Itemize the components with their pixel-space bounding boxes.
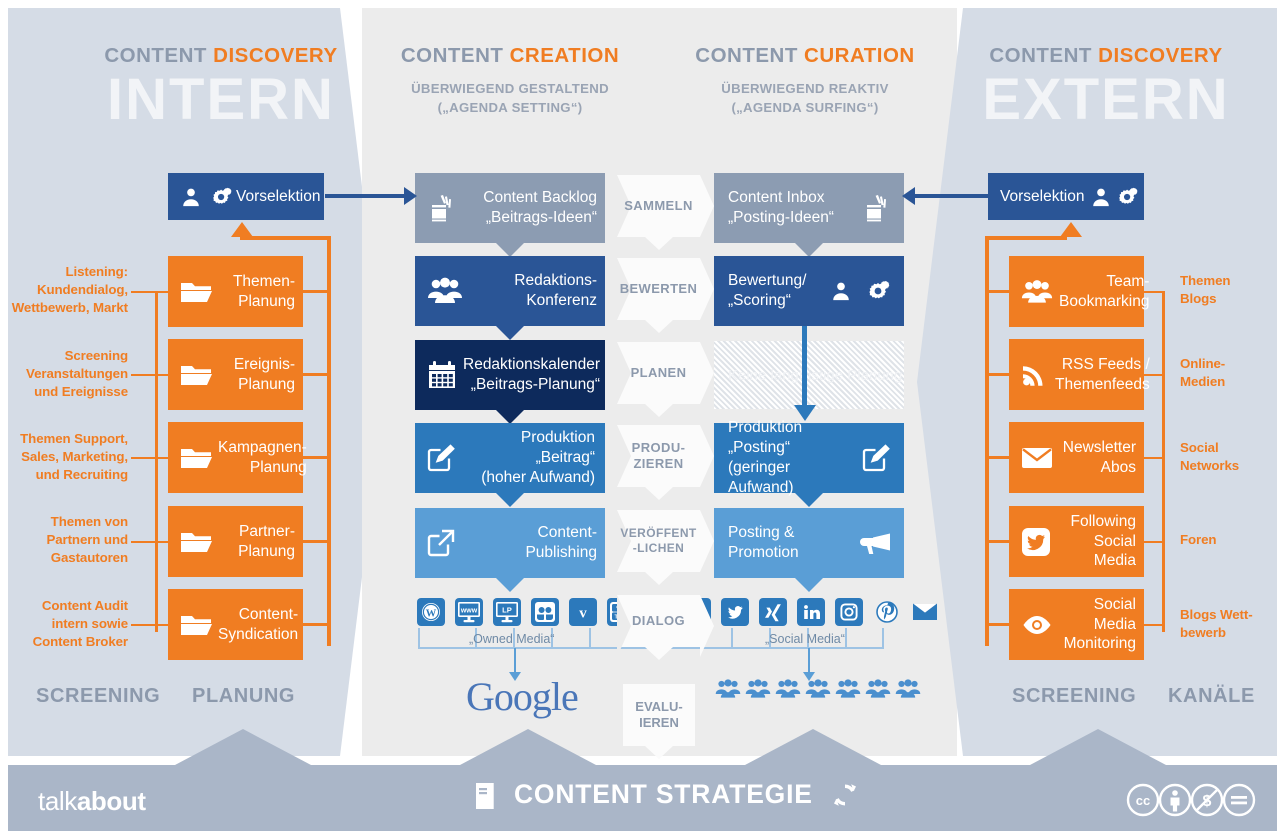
box-social-media-monitoring[interactable]: Social MediaMonitoring xyxy=(1009,589,1144,660)
stage-bewerten: BEWERTEN xyxy=(617,258,700,320)
calendar-icon xyxy=(415,360,463,390)
box-ereignis-planung[interactable]: Ereignis-Planung xyxy=(168,339,303,410)
left-vorselektion-label: Vorselektion xyxy=(236,187,330,207)
brand-logo: talkabout xyxy=(38,786,146,817)
right-return-arrowhead xyxy=(1060,222,1082,237)
box-label: RSS Feeds /Themenfeeds xyxy=(1055,355,1158,395)
people-icon xyxy=(715,678,741,700)
header-kicker: CONTENT CURATION xyxy=(660,45,950,68)
caret-1 xyxy=(496,243,524,257)
people-icon xyxy=(745,678,771,700)
header-discovery-extern: CONTENT DISCOVERY EXTERN xyxy=(945,45,1267,130)
right-vorselektion-box[interactable]: Vorselektion xyxy=(988,173,1144,220)
left-stub-1 xyxy=(300,290,330,293)
stage-evaluieren: EVALU-IEREN xyxy=(623,684,695,746)
footer-triangle-1 xyxy=(175,729,311,765)
people-icon xyxy=(865,678,891,700)
caret-c1 xyxy=(795,243,823,257)
left-caption-spine xyxy=(155,292,158,632)
stage-label: EVALU-IEREN xyxy=(635,699,682,732)
backlog-icon xyxy=(415,193,463,223)
header-kicker: CONTENT DISCOVERY xyxy=(60,45,382,68)
box-label: Content-Publishing xyxy=(461,523,605,563)
header-kicker: CONTENT CREATION xyxy=(365,45,655,68)
header-ghost-word: EXTERN xyxy=(945,70,1267,131)
caret-2 xyxy=(496,326,524,340)
wordpress-icon[interactable]: W xyxy=(417,598,445,626)
header-kicker: CONTENT DISCOVERY xyxy=(945,45,1267,68)
pinterest-icon[interactable] xyxy=(873,598,901,626)
box-redaktionskalender[interactable]: Redaktionskalender„Beitrags-Planung“ xyxy=(415,340,605,410)
box-content-publishing[interactable]: Content-Publishing xyxy=(415,508,605,578)
people-icon xyxy=(805,678,831,700)
caret-5 xyxy=(496,578,524,592)
edit-icon xyxy=(415,444,463,472)
landing-page-icon[interactable]: LP xyxy=(493,598,521,626)
xing-icon[interactable] xyxy=(759,598,787,626)
caption-listening: Listening: Kundendialog, Wettbewerb, Mar… xyxy=(8,263,128,317)
box-newsletter-abos[interactable]: NewsletterAbos xyxy=(1009,422,1144,493)
right-return-spine xyxy=(985,236,989,646)
nc-icon: $ xyxy=(1189,782,1225,818)
box-produktion-posting[interactable]: Produktion „Posting“(geringer Aufwand) xyxy=(714,423,904,493)
svg-text:cc: cc xyxy=(1136,793,1150,808)
linkedin-icon[interactable] xyxy=(797,598,825,626)
gears-icon xyxy=(208,186,236,208)
header-subtitle: ÜBERWIEGEND GESTALTEND („AGENDA SETTING“… xyxy=(365,79,655,117)
vimeo-icon[interactable]: v xyxy=(569,598,597,626)
box-label: Produktion „Posting“(geringer Aufwand) xyxy=(714,418,856,497)
stage-veroeffentlichen: VERÖFFENT-LICHEN xyxy=(617,510,700,572)
caption-screening: Screening Veranstaltungen und Ereignisse xyxy=(8,347,128,401)
user-icon xyxy=(168,186,208,208)
connector-left-arrowhead xyxy=(404,187,417,205)
header-content-creation: CONTENT CREATION ÜBERWIEGEND GESTALTEND … xyxy=(365,45,655,117)
left-stub-4 xyxy=(300,540,330,543)
box-content-backlog[interactable]: Content Backlog„Beitrags-Ideen“ xyxy=(415,173,605,243)
audience-group-icons xyxy=(715,678,921,700)
footer-triangle-4 xyxy=(1030,729,1166,765)
box-produktion-beitrag[interactable]: Produktion „Beitrag“(hoher Aufwand) xyxy=(415,423,605,493)
box-keine-langfristige-planung: Keine langfristige Planung xyxy=(714,341,904,409)
svg-text:LP: LP xyxy=(502,606,512,615)
box-kampagnen-planung[interactable]: Kampagnen-Planung xyxy=(168,422,303,493)
caption-themen-support: Themen Support, Sales, Marketing, und Re… xyxy=(8,430,128,484)
box-label: Redaktions-Konferenz xyxy=(469,271,605,311)
hatched-label: Keine langfristige Planung xyxy=(728,367,902,384)
stage-dialog: DIALOG xyxy=(617,595,700,647)
footer-triangle-2 xyxy=(460,729,596,765)
stage-planen: PLANEN xyxy=(617,342,700,404)
twitter-icon[interactable] xyxy=(721,598,749,626)
svg-text:www: www xyxy=(460,607,478,614)
box-themen-planung[interactable]: Themen-Planung xyxy=(168,256,303,327)
box-label: Kampagnen-Planung xyxy=(218,438,315,478)
box-label: FollowingSocial Media xyxy=(1057,512,1144,571)
people-icon xyxy=(895,678,921,700)
rcaption-blogs-wettbewerb: Blogs Wett- bewerb xyxy=(1180,606,1280,642)
stage-sammeln: SAMMELN xyxy=(617,175,700,237)
box-team-bookmarking[interactable]: Team-Bookmarking xyxy=(1009,256,1144,327)
header-ghost-word: INTERN xyxy=(60,70,382,131)
email-icon[interactable] xyxy=(911,598,939,626)
stage-label: VERÖFFENT-LICHEN xyxy=(620,526,696,556)
curation-long-arrow-shaft xyxy=(802,326,807,408)
caption-content-audit: Content Audit intern sowie Content Broke… xyxy=(8,597,128,651)
people-icon xyxy=(775,678,801,700)
box-label: Produktion „Beitrag“(hoher Aufwand) xyxy=(463,428,605,487)
folder-icon xyxy=(168,362,218,388)
user-icon xyxy=(824,280,864,302)
box-following-social-media[interactable]: FollowingSocial Media xyxy=(1009,506,1144,577)
license-icons: cc $ xyxy=(1125,782,1257,818)
box-label: Posting &Promotion xyxy=(714,523,854,563)
external-link-icon xyxy=(415,529,461,557)
label-planung: PLANUNG xyxy=(192,685,295,708)
bracket-tick xyxy=(731,628,733,647)
bracket-label-owned-media: „Owned Media“ xyxy=(469,632,554,646)
team-icon xyxy=(415,277,469,305)
svg-text:v: v xyxy=(579,606,587,622)
right-return-top xyxy=(985,236,1067,240)
bracket-tick xyxy=(845,628,847,647)
box-content-inbox[interactable]: Content Inbox„Posting-Ideen“ xyxy=(714,173,904,243)
megaphone-icon xyxy=(854,530,904,556)
bracket-tick xyxy=(882,628,884,647)
box-label: Content Backlog„Beitrags-Ideen“ xyxy=(463,188,605,228)
box-posting-promotion[interactable]: Posting &Promotion xyxy=(714,508,904,578)
by-icon xyxy=(1157,782,1193,818)
header-subtitle: ÜBERWIEGEND REAKTIV („AGENDA SURFING“) xyxy=(660,79,950,117)
gears-icon xyxy=(1114,186,1148,208)
box-content-syndication[interactable]: Content-Syndication xyxy=(168,589,303,660)
rcaption-foren: Foren xyxy=(1180,531,1280,549)
box-rss-feeds[interactable]: RSS Feeds /Themenfeeds xyxy=(1009,339,1144,410)
bracket-label-social-media: „Social Media“ xyxy=(765,632,845,646)
right-caption-spine xyxy=(1162,292,1165,632)
box-label: Ereignis-Planung xyxy=(218,355,303,395)
stage-produzieren: PRODU-ZIEREN xyxy=(617,425,700,487)
label-kanaele: KANÄLE xyxy=(1168,685,1255,708)
box-partner-planung[interactable]: Partner-Planung xyxy=(168,506,303,577)
connector-right-arrowhead xyxy=(902,187,915,205)
box-label: Partner-Planung xyxy=(218,522,303,562)
box-label: Content Inbox„Posting-Ideen“ xyxy=(714,188,856,228)
bracket-tick xyxy=(418,628,420,647)
box-label: Team-Bookmarking xyxy=(1059,272,1157,312)
cc-icon: cc xyxy=(1125,782,1161,818)
caret-c5 xyxy=(795,578,823,592)
folder-icon xyxy=(168,612,218,638)
user-icon xyxy=(1084,186,1114,208)
left-return-arrowhead xyxy=(231,222,253,237)
box-bewertung-scoring[interactable]: Bewertung/„Scoring“ xyxy=(714,256,904,326)
stage-label: BEWERTEN xyxy=(620,281,698,297)
label-screening-left: SCREENING xyxy=(36,685,160,708)
eye-icon xyxy=(1009,614,1059,636)
right-vorselektion-label: Vorselektion xyxy=(988,187,1084,207)
book-icon xyxy=(470,780,500,810)
box-label: Redaktionskalender„Beitrags-Planung“ xyxy=(463,355,610,395)
box-label: NewsletterAbos xyxy=(1059,438,1144,478)
footer-triangle-3 xyxy=(745,729,881,765)
folder-icon xyxy=(168,279,218,305)
box-label: Bewertung/„Scoring“ xyxy=(714,271,824,311)
arrow-to-audience-shaft xyxy=(808,648,810,675)
left-return-spine xyxy=(327,236,331,646)
stage-label: PLANEN xyxy=(631,365,687,381)
folder-icon xyxy=(168,445,218,471)
box-label: Social MediaMonitoring xyxy=(1059,595,1144,654)
box-label: Themen-Planung xyxy=(218,272,303,312)
people-icon xyxy=(835,678,861,700)
nd-icon xyxy=(1221,782,1257,818)
left-return-top xyxy=(240,236,331,240)
svg-text:W: W xyxy=(426,608,437,619)
rcaption-social-networks: Social Networks xyxy=(1180,439,1280,475)
stage-label: SAMMELN xyxy=(624,198,693,214)
header-discovery-intern: CONTENT DISCOVERY INTERN xyxy=(60,45,382,130)
gears-icon xyxy=(864,279,904,303)
header-content-curation: CONTENT CURATION ÜBERWIEGEND REAKTIV („A… xyxy=(660,45,950,117)
stage-label: PRODU-ZIEREN xyxy=(632,440,686,473)
refresh-icon xyxy=(831,781,859,809)
evaluieren-tail xyxy=(645,746,673,759)
caret-c4 xyxy=(795,493,823,507)
slideshare-icon[interactable] xyxy=(531,598,559,626)
backlog-icon xyxy=(856,193,904,223)
left-vorselektion-box[interactable]: Vorselektion xyxy=(168,173,324,220)
rcaption-themen-blogs: Themen Blogs xyxy=(1180,272,1280,308)
footer-title: CONTENT STRATEGIE xyxy=(470,779,859,810)
google-logo: Google xyxy=(466,673,578,720)
stage-label: DIALOG xyxy=(632,613,685,629)
bracket-tick xyxy=(589,628,591,647)
twitter-icon xyxy=(1009,527,1057,557)
label-screening-right: SCREENING xyxy=(1012,685,1136,708)
website-icon[interactable]: www xyxy=(455,598,483,626)
box-label: Content-Syndication xyxy=(218,605,306,645)
connector-left-to-backlog xyxy=(325,194,413,198)
left-stub-2 xyxy=(300,373,330,376)
edit-icon xyxy=(856,444,904,472)
footer-title-text: CONTENT STRATEGIE xyxy=(514,779,813,810)
instagram-icon[interactable] xyxy=(835,598,863,626)
arrow-to-google-shaft xyxy=(514,648,516,675)
envelope-icon xyxy=(1009,446,1059,470)
caret-3 xyxy=(496,410,524,424)
rcaption-online-medien: Online- Medien xyxy=(1180,355,1280,391)
rss-icon xyxy=(1009,362,1055,388)
folder-icon xyxy=(168,529,218,555)
caption-themen-partner: Themen von Partnern und Gastautoren xyxy=(8,513,128,567)
box-redaktions-konferenz[interactable]: Redaktions-Konferenz xyxy=(415,256,605,326)
team-icon xyxy=(1009,279,1059,305)
caret-4 xyxy=(496,493,524,507)
